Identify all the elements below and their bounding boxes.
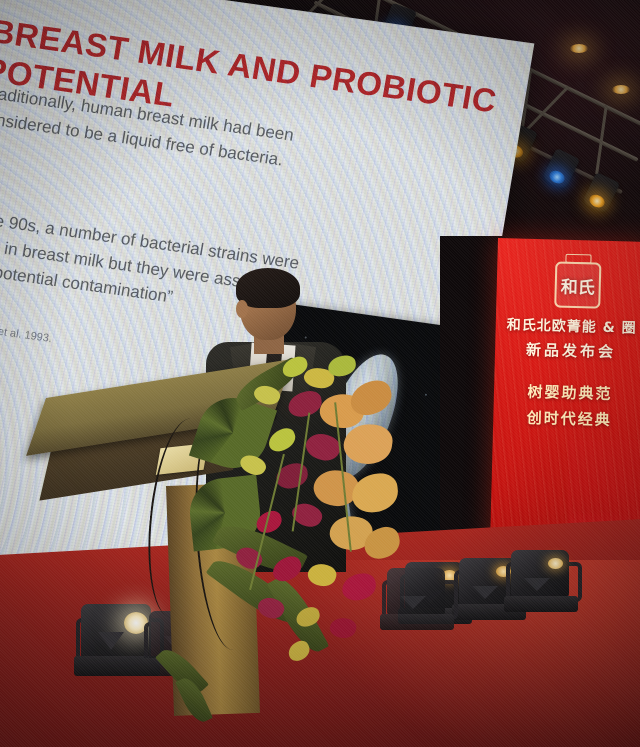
ceiling-light-2 [612, 85, 630, 94]
banner-line-2: 新品发布会 [495, 338, 640, 363]
brand-seal-logo: 和氏 [554, 262, 601, 309]
foreground-foliage [154, 660, 224, 740]
banner-line-3: 树婴助典范 [494, 380, 640, 405]
floral-arrangement [196, 352, 406, 682]
banner-line-4: 创时代经典 [493, 406, 640, 431]
conference-photo: BREAST MILK AND PROBIOTIC POTENTIAL Trad… [0, 0, 640, 747]
speaker-ear [236, 300, 248, 318]
ceiling-light-1 [570, 44, 588, 53]
banner-line-1: 和氏北欧菁能 & 圈 [495, 314, 640, 338]
moving-head-light-3 [504, 548, 578, 612]
